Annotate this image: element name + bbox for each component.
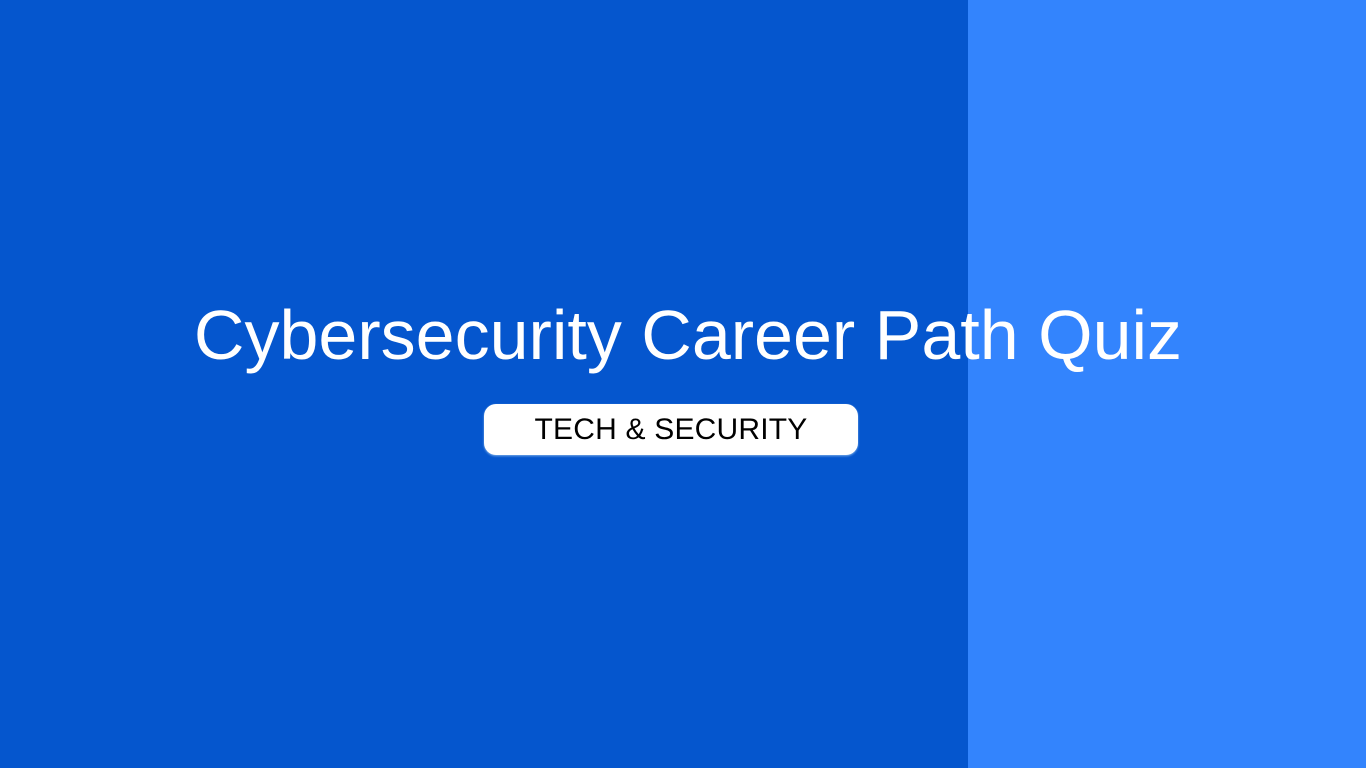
slide-canvas: Cybersecurity Career Path Quiz TECH & SE… <box>0 0 1366 768</box>
tech-and-security-button[interactable]: TECH & SECURITY <box>484 404 858 455</box>
page-title: Cybersecurity Career Path Quiz <box>0 293 1366 377</box>
slide-content: Cybersecurity Career Path Quiz TECH & SE… <box>0 0 1366 768</box>
